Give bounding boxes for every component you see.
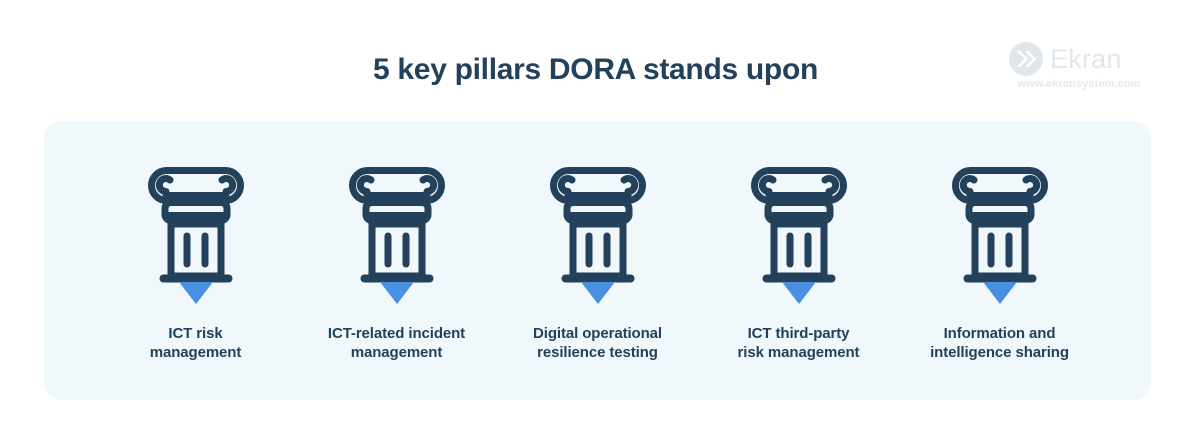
pillar-label-4: ICT third-party risk management [701,324,897,362]
pillar-item-3: Digital operational resilience testing [497,166,698,362]
pillar-label-line-2: intelligence sharing [902,343,1098,362]
watermark-logo: Ekran www.ekransystem.com [1009,42,1149,98]
pillar-label-line-1: Information and [902,324,1098,343]
pillar-item-5: Information and intelligence sharing [899,166,1100,362]
ionic-column-icon [146,166,246,308]
ionic-column-icon [347,166,447,308]
pillar-label-line-2: risk management [701,343,897,362]
pillar-label-line-1: ICT third-party [701,324,897,343]
pillar-label-line-2: resilience testing [500,343,696,362]
watermark-brand-name: Ekran [1050,44,1122,74]
pillar-label-5: Information and intelligence sharing [902,324,1098,362]
ionic-column-icon [749,166,849,308]
pillars-panel: ICT risk management [44,121,1151,400]
pillar-label-3: Digital operational resilience testing [500,324,696,362]
pillar-label-line-1: ICT risk [98,324,294,343]
pillars-row: ICT risk management [44,121,1151,400]
pillar-label-line-1: ICT-related incident [299,324,495,343]
pillar-item-2: ICT-related incident management [296,166,497,362]
watermark-brand-row: Ekran [1009,42,1149,76]
pillar-item-1: ICT risk management [95,166,296,362]
pillar-label-line-2: management [299,343,495,362]
pillar-label-1: ICT risk management [98,324,294,362]
pillar-label-line-2: management [98,343,294,362]
pillar-item-4: ICT third-party risk management [698,166,899,362]
pillar-label-2: ICT-related incident management [299,324,495,362]
watermark-url: www.ekransystem.com [1009,78,1149,90]
header: 5 key pillars DORA stands upon Ekran www… [0,0,1191,121]
pillar-label-line-1: Digital operational [500,324,696,343]
ionic-column-icon [950,166,1050,308]
ionic-column-icon [548,166,648,308]
double-chevron-circle-icon [1009,42,1043,76]
